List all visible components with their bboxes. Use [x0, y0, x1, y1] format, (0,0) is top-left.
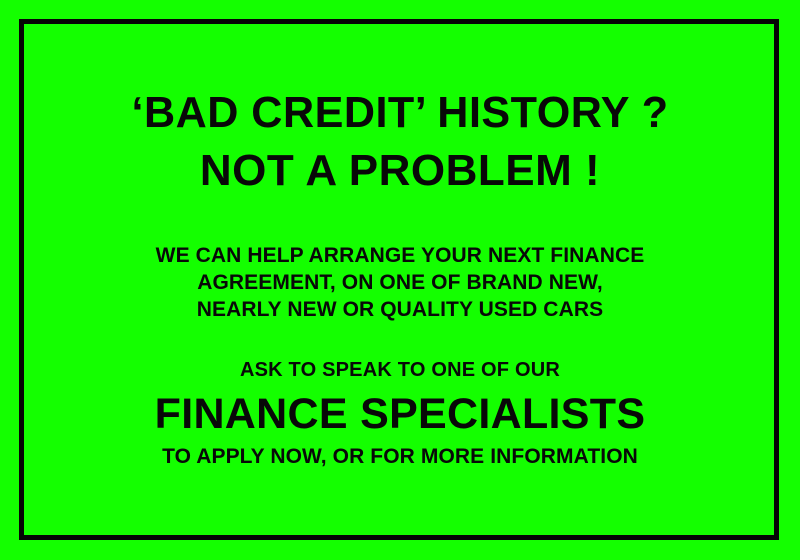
callout-block: ASK TO SPEAK TO ONE OF OUR FINANCE SPECI…	[155, 357, 646, 470]
body-line-3: NEARLY NEW OR QUALITY USED CARS	[156, 296, 645, 323]
callout-lead-in: ASK TO SPEAK TO ONE OF OUR	[155, 357, 646, 383]
headline-line-2: NOT A PROBLEM !	[200, 144, 600, 198]
headline-line-1: ‘BAD CREDIT’ HISTORY ?	[131, 86, 668, 140]
callout-closing: TO APPLY NOW, OR FOR MORE INFORMATION	[155, 443, 646, 470]
advertisement-poster: ‘BAD CREDIT’ HISTORY ? NOT A PROBLEM ! W…	[0, 0, 800, 560]
callout-emphasis: FINANCE SPECIALISTS	[155, 388, 646, 440]
body-paragraph: WE CAN HELP ARRANGE YOUR NEXT FINANCE AG…	[156, 242, 645, 323]
body-line-1: WE CAN HELP ARRANGE YOUR NEXT FINANCE	[156, 242, 645, 269]
body-line-2: AGREEMENT, ON ONE OF BRAND NEW,	[156, 269, 645, 296]
poster-content: ‘BAD CREDIT’ HISTORY ? NOT A PROBLEM ! W…	[0, 0, 800, 560]
